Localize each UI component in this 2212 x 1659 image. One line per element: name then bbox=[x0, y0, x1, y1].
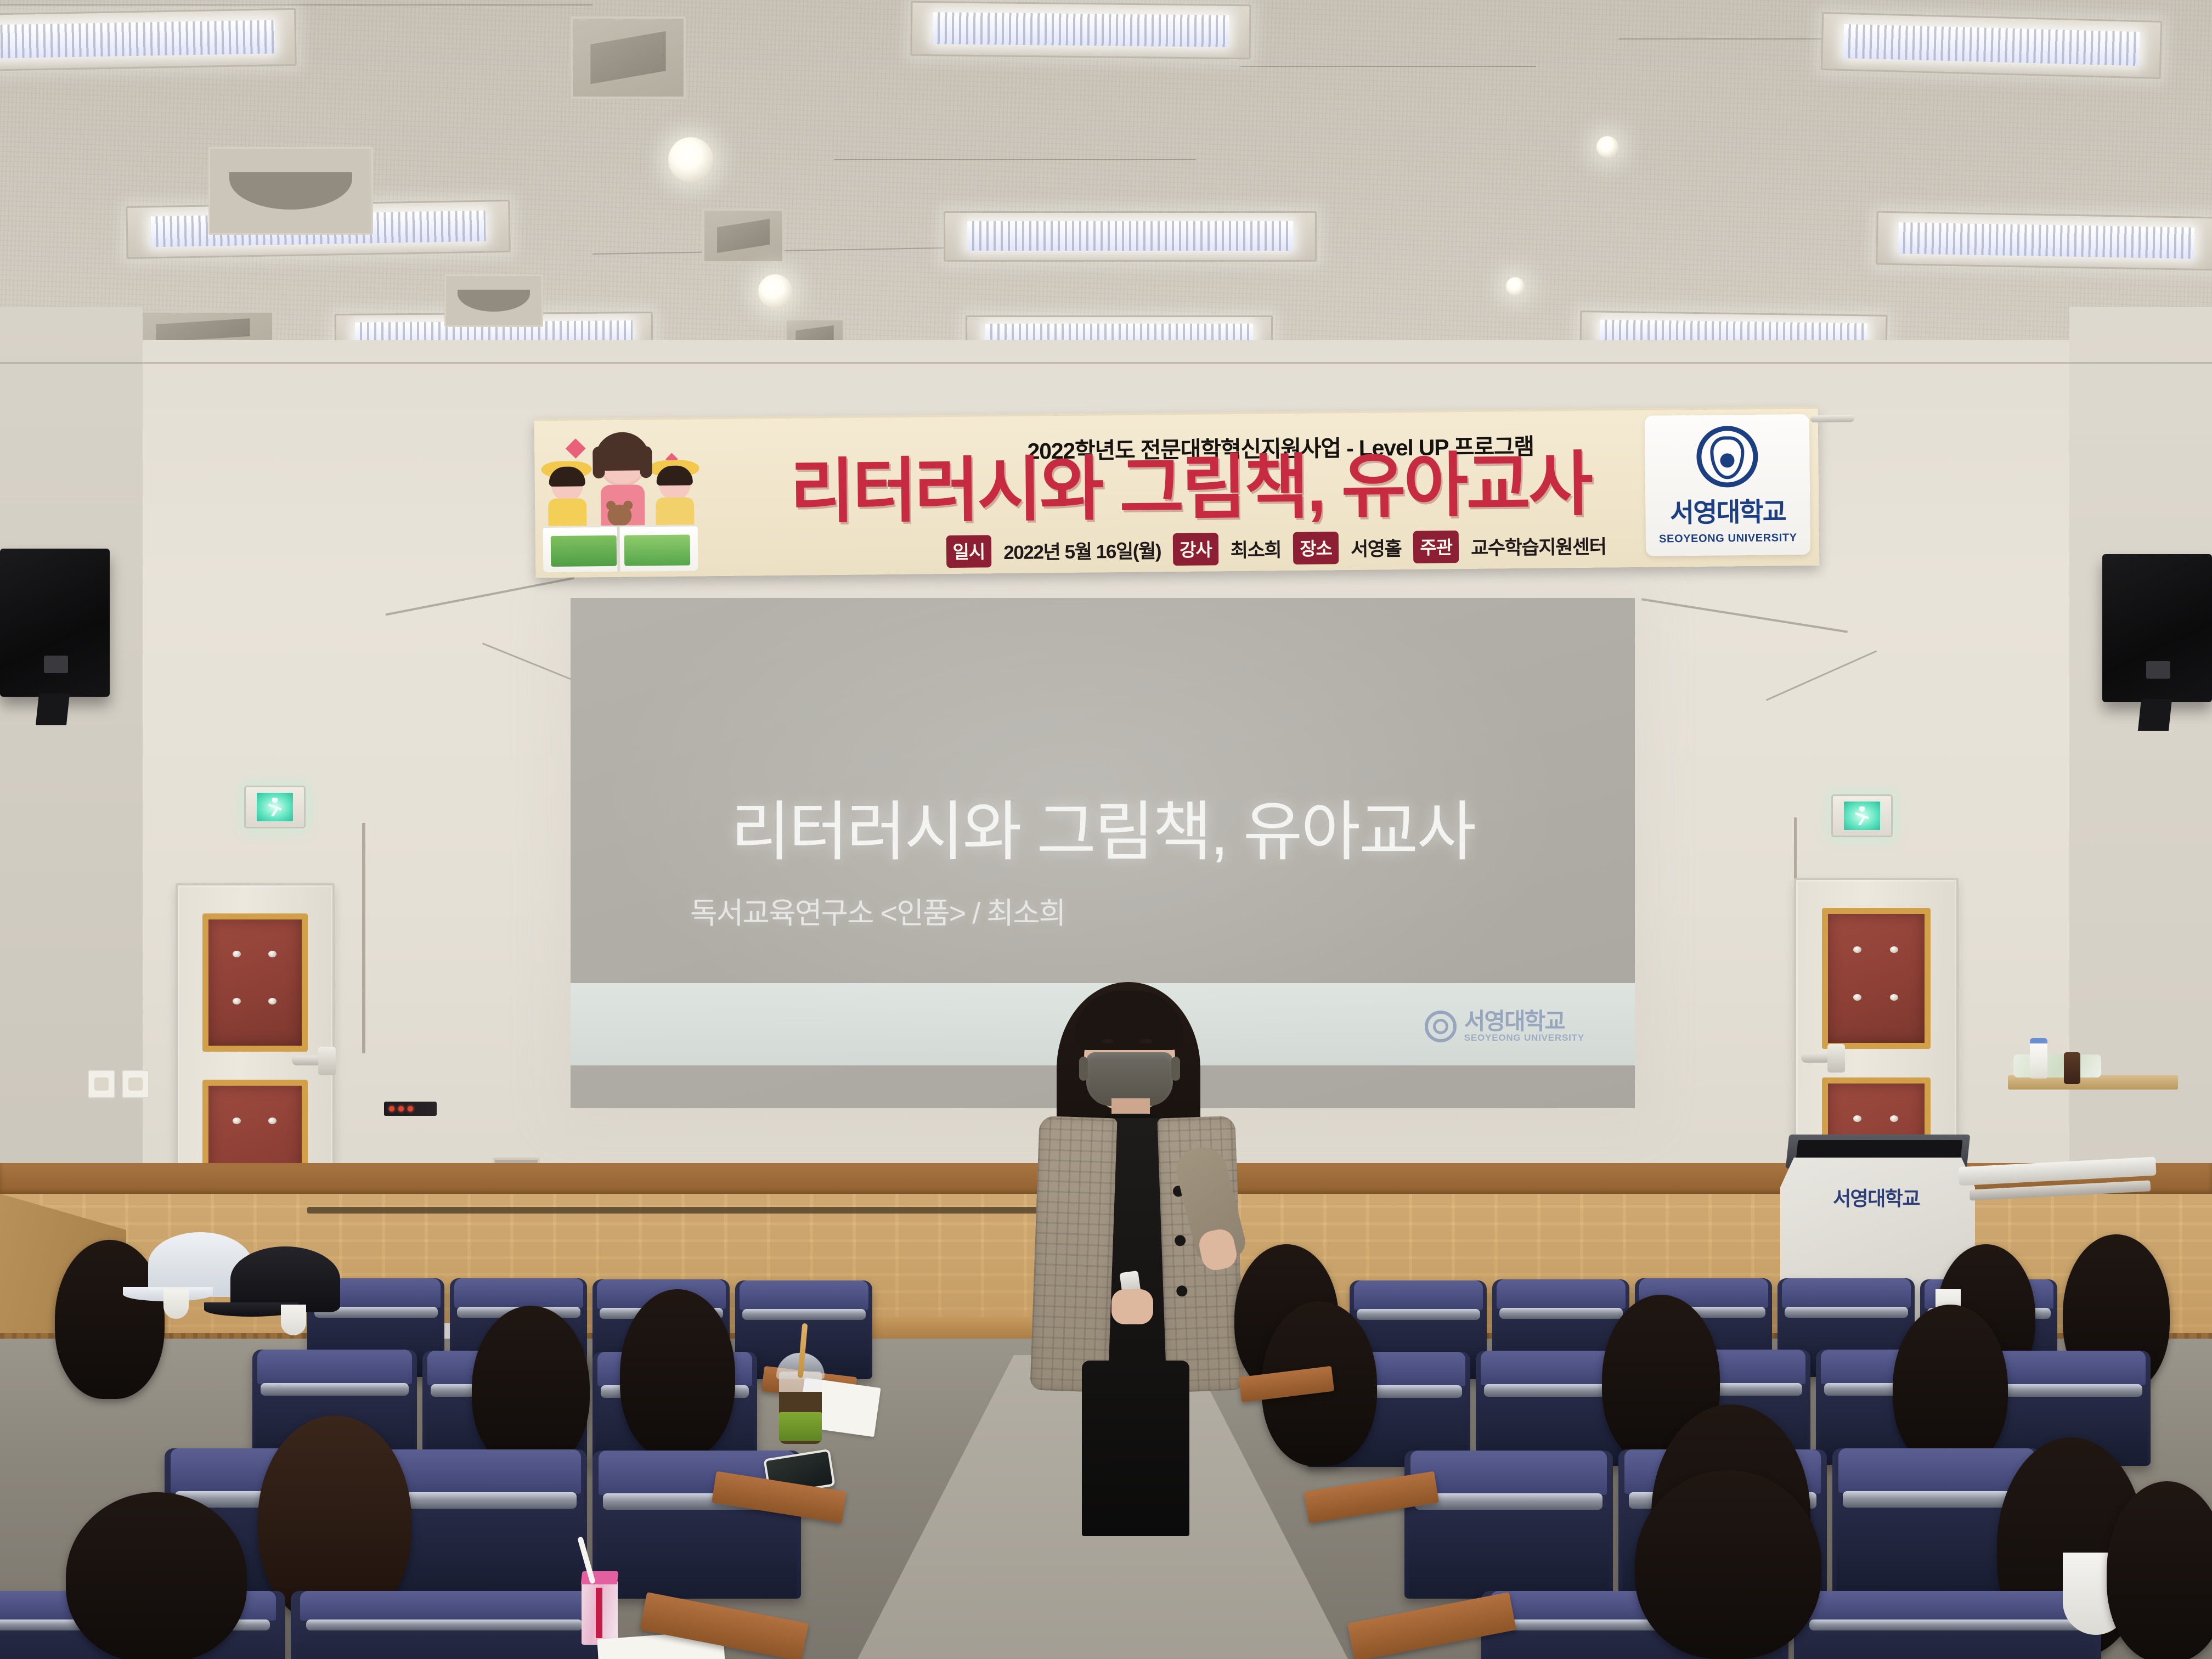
banner-university-logo: 서영대학교 SEOYEONG UNIVERSITY bbox=[1645, 414, 1810, 556]
cloth-on-table bbox=[2013, 1054, 2101, 1077]
door-handle[interactable] bbox=[292, 1056, 328, 1065]
banner-chip-date: 일시 bbox=[946, 535, 991, 568]
banner-logo-english: SEOYEONG UNIVERSITY bbox=[1659, 532, 1797, 545]
presenter bbox=[1004, 982, 1267, 1536]
audience-head bbox=[1893, 1305, 2008, 1469]
auditorium-seat[interactable] bbox=[1404, 1451, 1613, 1599]
ceiling-light-troffer bbox=[944, 211, 1317, 262]
auditorium-seat[interactable] bbox=[1794, 1591, 2101, 1659]
lecture-hall-photo: 리터러시와 그림책, 유아교사 독서교육연구소 <인품> / 최소희 서영대학교… bbox=[0, 0, 2212, 1659]
water-bottle bbox=[2030, 1038, 2047, 1079]
ceiling-downlight bbox=[758, 274, 792, 308]
university-crest-icon bbox=[1425, 1011, 1457, 1042]
ceiling-light-troffer bbox=[910, 1, 1251, 59]
wall-speaker-right bbox=[2102, 554, 2212, 702]
strawberry-milk-carton bbox=[582, 1580, 618, 1645]
presenter-blazer-left bbox=[1030, 1116, 1117, 1393]
banner-value-date: 2022년 5월 16일(월) bbox=[1003, 535, 1161, 565]
banner-info-row: 일시 2022년 5월 16일(월) 강사 최소희 장소 서영홀 주관 교수학습… bbox=[810, 528, 1742, 569]
audience-head bbox=[472, 1306, 590, 1470]
ceiling-recessed-fixture bbox=[208, 147, 373, 235]
audience-black-cap bbox=[230, 1246, 340, 1312]
audience-head bbox=[620, 1289, 735, 1459]
slide-logo-korean: 서영대학교 bbox=[1464, 1010, 1584, 1033]
door-handle[interactable] bbox=[1801, 1053, 1837, 1063]
banner-chip-host: 주관 bbox=[1413, 531, 1459, 563]
ceiling-downlight bbox=[1596, 136, 1618, 158]
ceiling-air-vent bbox=[571, 16, 686, 99]
slide-university-logo: 서영대학교 SEOYEONG UNIVERSITY bbox=[1425, 1010, 1584, 1042]
banner-logo-korean: 서영대학교 bbox=[1670, 490, 1786, 529]
audience-face-mask bbox=[163, 1288, 189, 1319]
iced-drink-cup bbox=[779, 1372, 822, 1444]
wall-outlet bbox=[88, 1070, 115, 1098]
slide-logo-english: SEOYEONG UNIVERSITY bbox=[1464, 1033, 1584, 1042]
banner-rod bbox=[1810, 415, 1854, 422]
ceiling-air-vent bbox=[702, 208, 785, 263]
audience-face-mask bbox=[281, 1305, 306, 1335]
banner-chip-venue: 장소 bbox=[1293, 532, 1339, 565]
banner-illustration bbox=[540, 426, 701, 574]
banner-title: 리터러시와 그림책, 유아교사 bbox=[699, 446, 1681, 531]
event-banner: 2022학년도 전문대학혁신지원사업 - Level UP 프로그램 리터러시와… bbox=[534, 407, 1820, 578]
ceiling-downlight bbox=[1506, 277, 1525, 296]
banner-value-host: 교수학습지원센터 bbox=[1471, 531, 1606, 560]
auditorium-seat[interactable] bbox=[291, 1591, 598, 1659]
slide-title: 리터러시와 그림책, 유아교사 bbox=[571, 779, 1635, 873]
audience-head bbox=[1635, 1470, 1821, 1659]
presenter-trousers bbox=[1082, 1361, 1189, 1536]
emergency-exit-icon bbox=[244, 786, 306, 828]
dark-bottle bbox=[2064, 1052, 2080, 1084]
audience-head bbox=[66, 1492, 247, 1659]
wall-speaker-left bbox=[0, 549, 110, 697]
presenter-left-hand bbox=[1111, 1289, 1153, 1324]
slide-subtitle: 독서교육연구소 <인품> / 최소희 bbox=[690, 889, 1065, 932]
podium-label: 서영대학교 bbox=[1799, 1183, 1953, 1211]
ceiling-light-troffer bbox=[1876, 211, 2212, 271]
banner-value-venue: 서영홀 bbox=[1351, 533, 1402, 562]
banner-chip-speaker: 강사 bbox=[1173, 533, 1218, 566]
ceiling-light-troffer bbox=[1821, 12, 2163, 79]
stage-floor-slot bbox=[307, 1207, 1108, 1214]
emergency-exit-icon bbox=[1831, 794, 1893, 837]
left-side-wall bbox=[0, 307, 143, 1273]
illustration-picturebook bbox=[543, 524, 698, 572]
banner-value-speaker: 최소희 bbox=[1231, 534, 1282, 563]
ceiling-recessed-fixture bbox=[444, 274, 543, 327]
wall-indicator-panel bbox=[384, 1102, 437, 1116]
wall-outlet bbox=[122, 1070, 149, 1098]
ceiling-light-troffer bbox=[0, 8, 297, 71]
right-side-wall bbox=[2069, 307, 2212, 1273]
university-crest-icon bbox=[1696, 425, 1758, 487]
ceiling-downlight bbox=[668, 137, 713, 182]
bear-icon bbox=[607, 505, 631, 527]
